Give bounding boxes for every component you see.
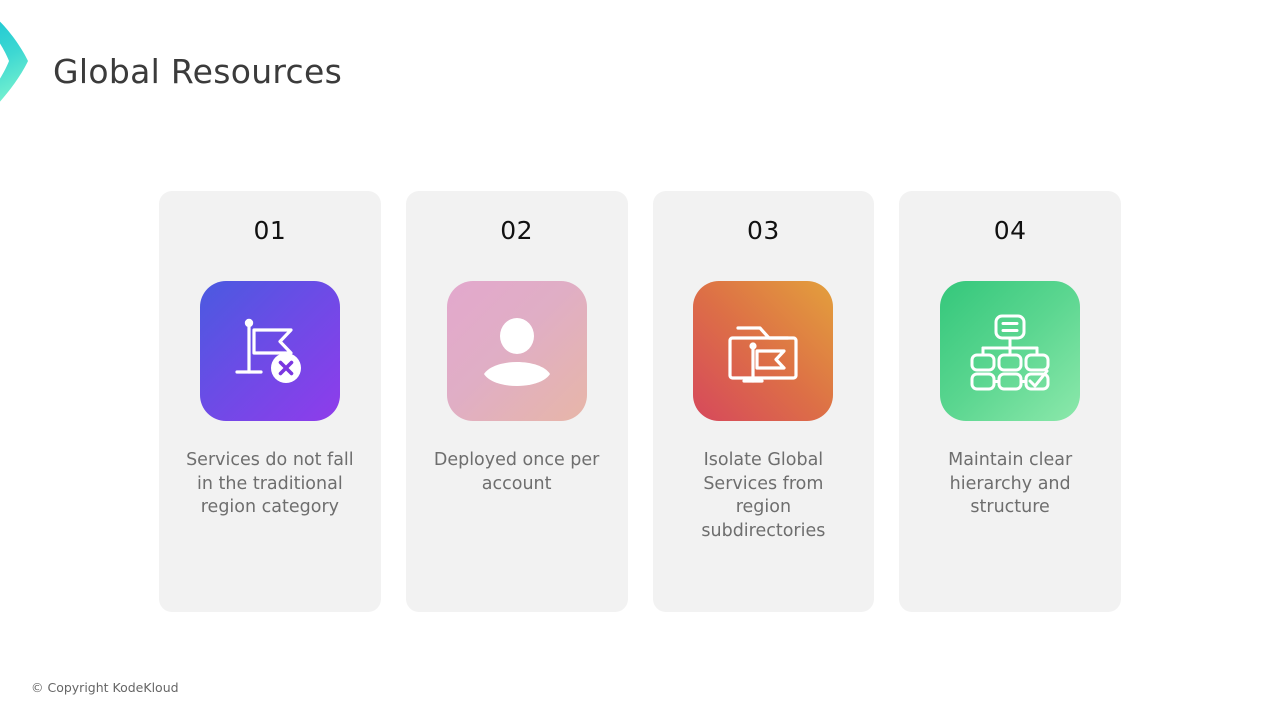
card-text: Isolate Global Services from region subd… xyxy=(678,449,848,543)
page-title: Global Resources xyxy=(53,52,342,91)
card-01[interactable]: 01 Services do not fall in the tradition… xyxy=(159,191,381,612)
folder-flag-icon xyxy=(693,281,833,421)
card-number: 04 xyxy=(994,218,1027,243)
card-02[interactable]: 02 Deployed once per account xyxy=(406,191,628,612)
copyright-text: © Copyright KodeKloud xyxy=(31,680,179,695)
user-account-icon xyxy=(447,281,587,421)
flag-remove-icon xyxy=(200,281,340,421)
card-03[interactable]: 03 Isolate Global Services from region s… xyxy=(653,191,875,612)
hierarchy-check-icon xyxy=(940,281,1080,421)
card-text: Services do not fall in the traditional … xyxy=(185,449,355,520)
slide-header: Global Resources xyxy=(0,0,1280,130)
card-number: 01 xyxy=(253,218,286,243)
card-number: 02 xyxy=(500,218,533,243)
card-number: 03 xyxy=(747,218,780,243)
card-text: Maintain clear hierarchy and structure xyxy=(925,449,1095,520)
chevron-right-logo xyxy=(0,14,50,110)
card-text: Deployed once per account xyxy=(432,449,602,496)
cards-row: 01 Services do not fall in the tradition… xyxy=(159,191,1121,612)
card-04[interactable]: 04 Maintain clear h xyxy=(899,191,1121,612)
